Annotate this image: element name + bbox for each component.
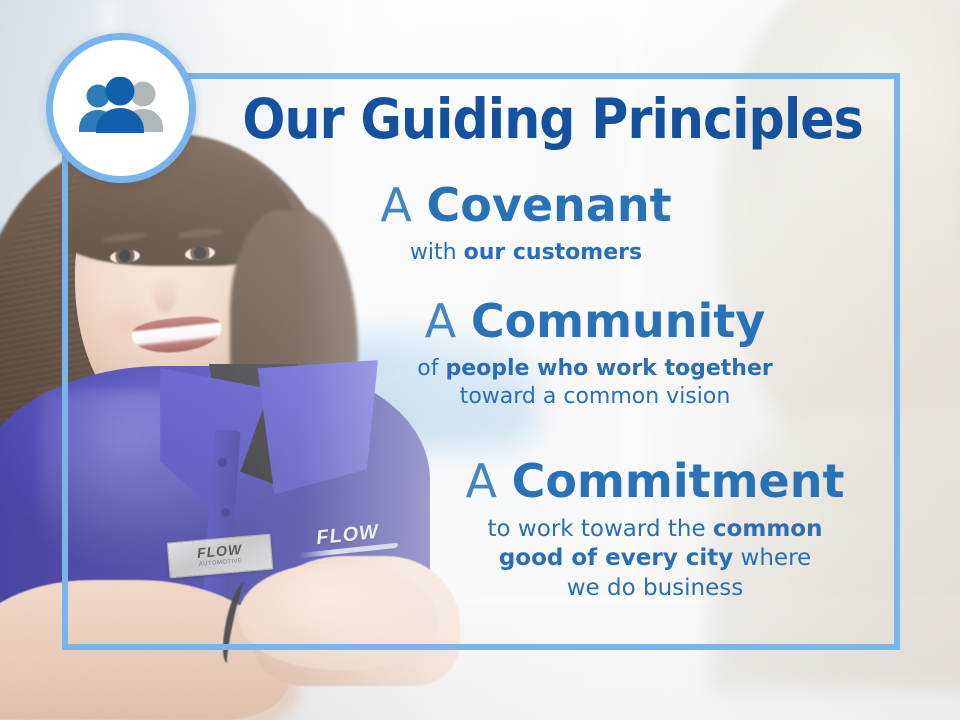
principle-subtext: with our customers: [316, 239, 736, 267]
employee-clasped-hands: [238, 564, 438, 670]
subtext-trail: where: [733, 545, 811, 571]
page-title: Our Guiding Principles: [242, 92, 849, 147]
subtext-normal: to work toward the: [488, 516, 713, 542]
subtext-line: good of every city where: [420, 544, 890, 573]
subtext-line: of people who work together: [360, 355, 830, 383]
subtext-line: toward a common vision: [360, 383, 830, 411]
subtext-normal: we do business: [567, 575, 744, 601]
subtext-bold: our customers: [464, 240, 643, 265]
shirt-button: [218, 458, 227, 467]
principle-headline: A Covenant: [316, 182, 736, 229]
principle-article: A: [425, 294, 456, 348]
guiding-principles-banner: FLOW AUTOMOTIVE FLOW Our Guiding Princip…: [0, 0, 960, 720]
subtext-normal: toward a common vision: [460, 384, 731, 409]
principle-keyword: Community: [471, 294, 765, 348]
principle-keyword: Commitment: [512, 454, 845, 508]
blurred-customer: [700, 0, 960, 530]
people-group-icon-badge: [46, 33, 196, 183]
subtext-bold: common: [713, 516, 823, 542]
people-group-icon: [73, 77, 169, 139]
subtext-line: we do business: [420, 574, 890, 603]
subtext-normal: of: [417, 356, 445, 381]
subtext-normal: with: [410, 240, 464, 265]
principle-block-commitment: A Commitment to work toward the common g…: [420, 458, 890, 603]
principle-article: A: [466, 454, 497, 508]
shirt-button: [221, 508, 230, 517]
principle-keyword: Covenant: [427, 178, 672, 232]
principle-block-community: A Community of people who work together …: [360, 298, 830, 411]
principle-subtext: of people who work together toward a com…: [360, 355, 830, 411]
principle-subtext: to work toward the common good of every …: [420, 515, 890, 603]
principle-article: A: [380, 178, 411, 232]
subtext-bold: good of every city: [499, 545, 733, 571]
principle-headline: A Commitment: [420, 458, 890, 505]
principle-block-covenant: A Covenant with our customers: [316, 182, 736, 267]
subtext-bold: people who work together: [445, 356, 772, 381]
principle-headline: A Community: [360, 298, 830, 345]
subtext-line: to work toward the common: [420, 515, 890, 544]
